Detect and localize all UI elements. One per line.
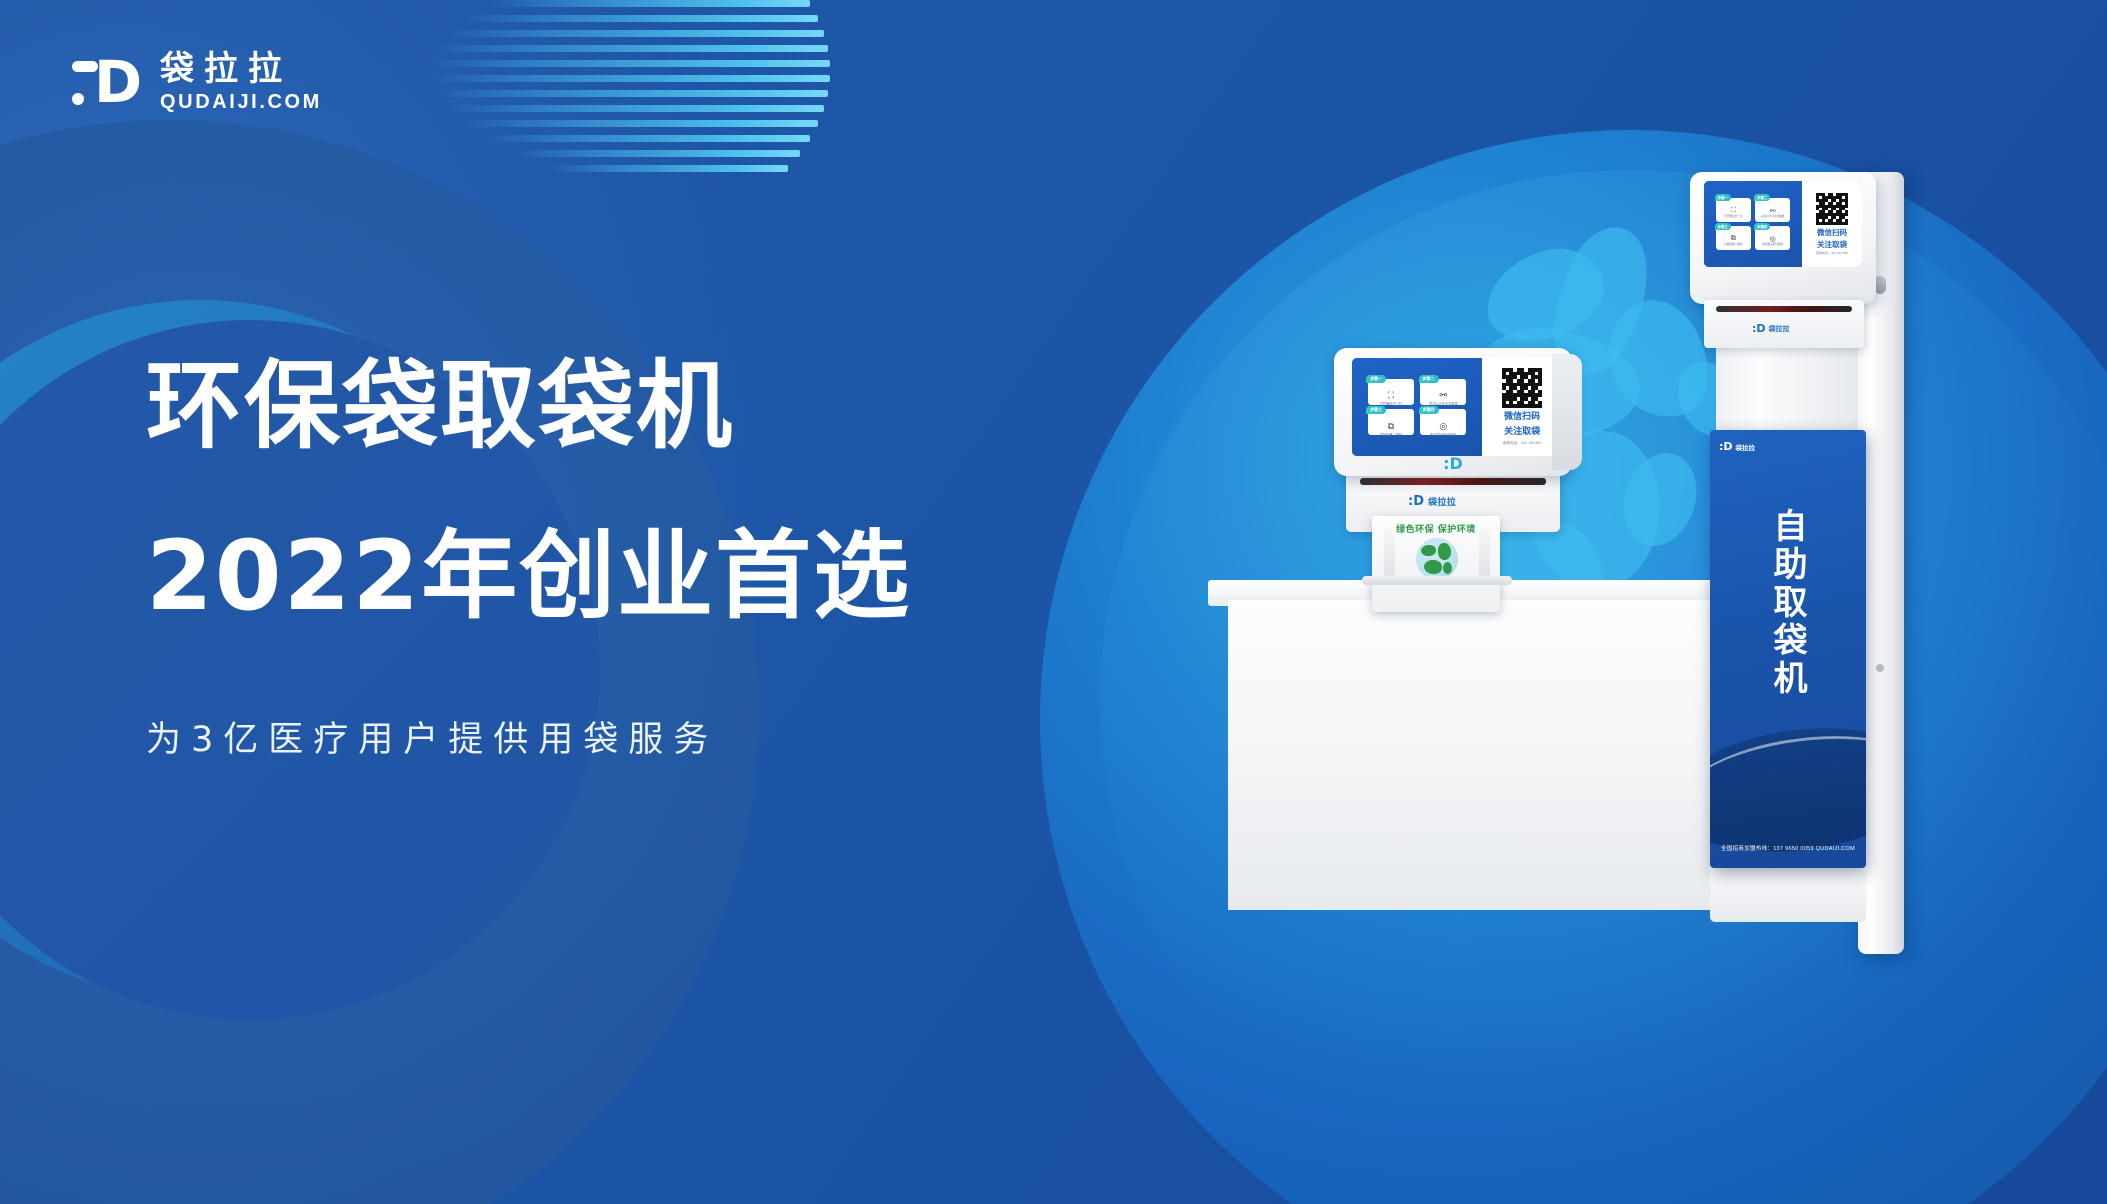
screen-step-card[interactable]: 步骤四◎取出袋子即可使用 — [1420, 409, 1466, 435]
screen-steps-pane: 步骤一⛶打开微信扫一扫步骤二⚯关注公众号点击取袋步骤三⧉扫描机器二维码步骤四◎取… — [1704, 181, 1802, 267]
headline-subtitle: 为3亿医疗用户提供用袋服务 — [146, 718, 911, 762]
desktop-kiosk-logo: :D 袋拉拉 — [1408, 494, 1456, 509]
banner-stage: D 袋拉拉 QUDAIJI.COM 环保袋取袋机 2022年创业首选 为3亿医疗… — [0, 0, 2107, 1204]
step-caption: 关注公众号点击取袋 — [1759, 216, 1786, 219]
desktop-kiosk-side — [1552, 354, 1582, 470]
screen-step-card[interactable]: 步骤三⧉扫描机器二维码 — [1368, 409, 1414, 435]
step-badge: 步骤四 — [1419, 406, 1439, 414]
screen-step-card[interactable]: 步骤二⚯关注公众号点击取袋 — [1420, 379, 1466, 405]
panel-vertical-title: 自助取袋机 — [1768, 478, 1808, 728]
desktop-kiosk-logo-cn: 袋拉拉 — [1428, 495, 1456, 508]
qr-icon: ⧉ — [1388, 421, 1394, 432]
stripe-row — [431, 75, 830, 82]
brand-logo: D 袋拉拉 QUDAIJI.COM — [72, 50, 322, 114]
stripe-row — [488, 135, 810, 142]
step-badge: 步骤二 — [1754, 194, 1770, 201]
brand-name-en: QUDAIJI.COM — [160, 90, 322, 114]
scan-icon: ⛶ — [1388, 390, 1394, 401]
screen-qr-pane: 微信扫码关注取袋客服电话：400-159-889 — [1482, 358, 1562, 456]
desktop-kiosk-foot — [1362, 576, 1512, 585]
step-badge: 步骤三 — [1366, 406, 1386, 414]
qr-code-icon — [1816, 193, 1848, 225]
screen-step-card[interactable]: 步骤一⛶打开微信扫一扫 — [1368, 379, 1414, 405]
desktop-kiosk: 步骤一⛶打开微信扫一扫步骤二⚯关注公众号点击取袋步骤三⧉扫描机器二维码步骤四◎取… — [1330, 348, 1590, 598]
floor-kiosk-logo-cn: 袋拉拉 — [1769, 324, 1790, 334]
stripe-row — [436, 45, 828, 52]
screen-brand-mark: :D — [1334, 454, 1572, 473]
floor-kiosk-logo: :D 袋拉拉 — [1752, 322, 1790, 335]
qr-phone-note: 客服电话：400-159-889 — [1816, 251, 1848, 255]
qr-code-icon — [1502, 368, 1542, 408]
headline-block: 环保袋取袋机 2022年创业首选 为3亿医疗用户提供用袋服务 — [146, 352, 911, 762]
qr-phone-note: 客服电话：400-159-889 — [1503, 441, 1541, 446]
bag-icon: ◎ — [1439, 421, 1447, 432]
floor-kiosk-head: 步骤一⛶打开微信扫一扫步骤二⚯关注公众号点击取袋步骤三⧉扫描机器二维码步骤四◎取… — [1690, 172, 1876, 304]
stripe-row — [488, 0, 810, 7]
step-badge: 步骤三 — [1715, 223, 1731, 230]
floor-kiosk: 步骤一⛶打开微信扫一扫步骤二⚯关注公众号点击取袋步骤三⧉扫描机器二维码步骤四◎取… — [1690, 172, 1910, 954]
step-caption: 扫描机器二维码 — [1722, 244, 1744, 247]
brand-name-cn: 袋拉拉 — [160, 50, 322, 88]
follow-icon: ⚯ — [1440, 390, 1448, 401]
floor-kiosk-panel: :D 袋拉拉 自助取袋机 全国招商加盟热线：137 9650 0059 QUDA… — [1710, 430, 1866, 868]
step-badge: 步骤二 — [1419, 375, 1439, 383]
floor-kiosk-base — [1710, 862, 1866, 922]
qr-title-line-1: 微信扫码 — [1504, 412, 1540, 423]
panel-logo: :D 袋拉拉 — [1719, 440, 1755, 453]
stripe-row — [448, 30, 824, 37]
logo-mark-icon: D — [72, 51, 144, 113]
stripe-row — [465, 120, 818, 127]
step-caption: 打开微信扫一扫 — [1722, 216, 1744, 219]
desktop-dispenser-slot — [1360, 478, 1546, 485]
stripe-row — [516, 150, 800, 157]
qr-title-line-2: 关注取袋 — [1504, 427, 1540, 438]
qr-title-line-1: 微信扫码 — [1817, 228, 1847, 237]
step-caption: 取出袋子即可使用 — [1760, 244, 1785, 247]
stripe-row — [465, 15, 818, 22]
step-badge: 步骤一 — [1715, 194, 1731, 201]
headline-line-1: 环保袋取袋机 — [146, 352, 911, 460]
step-caption: 扫描机器二维码 — [1378, 434, 1404, 438]
stripe-row — [448, 105, 824, 112]
screen-step-card[interactable]: 步骤四◎取出袋子即可使用 — [1755, 226, 1790, 250]
stripe-row — [550, 165, 788, 172]
step-caption: 取出袋子即可使用 — [1429, 434, 1459, 438]
striped-decoration — [430, 0, 830, 200]
desktop-kiosk-screen[interactable]: 步骤一⛶打开微信扫一扫步骤二⚯关注公众号点击取袋步骤三⧉扫描机器二维码步骤四◎取… — [1352, 358, 1562, 456]
screen-steps-pane: 步骤一⛶打开微信扫一扫步骤二⚯关注公众号点击取袋步骤三⧉扫描机器二维码步骤四◎取… — [1352, 358, 1482, 456]
desktop-kiosk-body: 步骤一⛶打开微信扫一扫步骤二⚯关注公众号点击取袋步骤三⧉扫描机器二维码步骤四◎取… — [1334, 348, 1572, 476]
stripe-row — [431, 60, 830, 67]
desktop-kiosk-legs — [1384, 530, 1490, 582]
panel-logo-cn: 袋拉拉 — [1736, 442, 1756, 452]
step-badge: 步骤四 — [1754, 223, 1770, 230]
screen-step-card[interactable]: 步骤一⛶打开微信扫一扫 — [1716, 198, 1751, 222]
floor-dispenser-slot — [1716, 306, 1852, 312]
floor-kiosk-screen[interactable]: 步骤一⛶打开微信扫一扫步骤二⚯关注公众号点击取袋步骤三⧉扫描机器二维码步骤四◎取… — [1704, 181, 1862, 267]
screen-step-card[interactable]: 步骤三⧉扫描机器二维码 — [1716, 226, 1751, 250]
stripe-row — [436, 90, 828, 97]
screen-step-card[interactable]: 步骤二⚯关注公众号点击取袋 — [1755, 198, 1790, 222]
step-badge: 步骤一 — [1366, 375, 1386, 383]
panel-footer-note: 全国招商加盟热线：137 9650 0059 QUDAIJI.COM — [1710, 844, 1866, 852]
qr-title-line-2: 关注取袋 — [1817, 240, 1847, 249]
headline-line-2: 2022年创业首选 — [146, 522, 911, 630]
screen-qr-pane: 微信扫码关注取袋客服电话：400-159-889 — [1802, 181, 1862, 267]
